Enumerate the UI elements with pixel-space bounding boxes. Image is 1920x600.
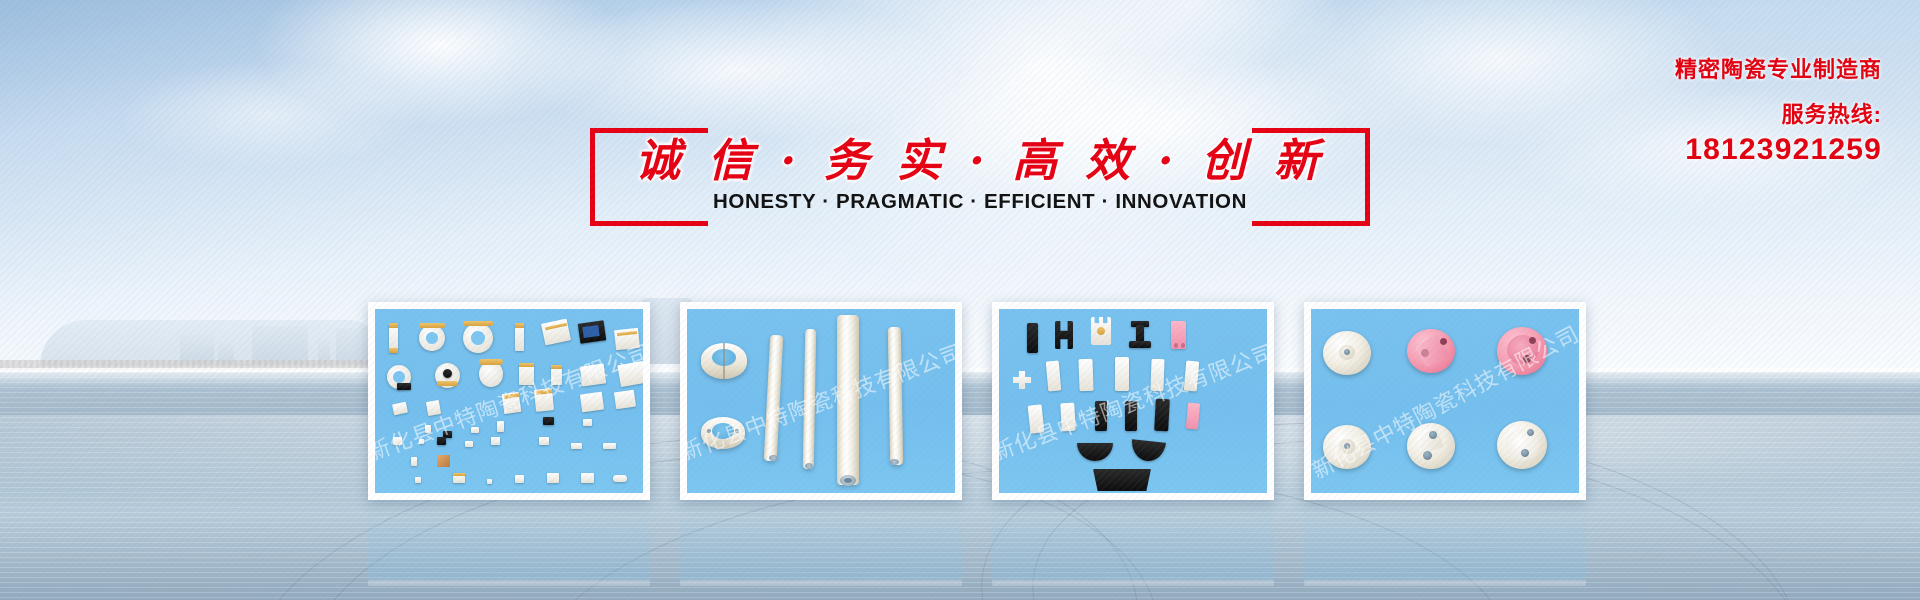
product-panel-4[interactable]: 新化县中特陶瓷科技有限公司 bbox=[1304, 302, 1586, 500]
ceramic-part bbox=[539, 437, 549, 445]
disc-hole bbox=[1523, 355, 1531, 363]
ceramic-part bbox=[1186, 403, 1200, 430]
ceramic-part bbox=[497, 421, 504, 432]
ceramic-arc-part bbox=[1077, 443, 1113, 461]
hotline-number[interactable]: 18123921259 bbox=[1675, 133, 1882, 167]
ceramic-part bbox=[1129, 341, 1151, 348]
ceramic-part bbox=[582, 325, 599, 338]
disc-hole bbox=[1521, 449, 1529, 457]
product-image-2: 新化县中特陶瓷科技有限公司 bbox=[687, 309, 955, 493]
disc-hole bbox=[1423, 451, 1432, 460]
ceramic-part bbox=[1184, 360, 1200, 391]
ceramic-part bbox=[437, 381, 457, 386]
disc-hole bbox=[1527, 429, 1534, 436]
ceramic-tube bbox=[888, 327, 903, 465]
ceramic-part bbox=[515, 475, 524, 483]
ceramic-part bbox=[437, 437, 446, 445]
ceramic-part bbox=[543, 417, 554, 425]
promo-banner: 诚 信 · 务 实 · 高 效 · 创 新 HONESTY · PRAGMATI… bbox=[0, 0, 1920, 600]
ceramic-part bbox=[1150, 359, 1164, 391]
tube-bore bbox=[805, 463, 813, 469]
disc-hole bbox=[1440, 338, 1447, 345]
ceramic-part bbox=[419, 323, 445, 328]
tube-bore bbox=[890, 459, 899, 465]
ceramic-part bbox=[487, 479, 492, 484]
hotline-label: 服务热线: bbox=[1675, 97, 1882, 129]
slogan-chinese: 诚 信 · 务 实 · 高 效 · 创 新 bbox=[590, 124, 1370, 189]
slogan-english: HONESTY · PRAGMATIC · EFFICIENT · INNOVA… bbox=[590, 190, 1370, 214]
ceramic-block-part bbox=[1093, 469, 1151, 491]
ceramic-part bbox=[1125, 401, 1137, 431]
ceramic-part bbox=[479, 359, 503, 365]
product-image-1: 新化县中特陶瓷科技有限公司 bbox=[375, 309, 643, 493]
ceramic-part bbox=[393, 437, 402, 445]
ceramic-part bbox=[1060, 403, 1075, 432]
ceramic-part bbox=[580, 363, 607, 386]
ceramic-part bbox=[389, 348, 398, 353]
disc-hole bbox=[1344, 349, 1350, 355]
product-image-3: 新化县中特陶瓷科技有限公司 bbox=[999, 309, 1267, 493]
ring-slot bbox=[723, 343, 725, 379]
contact-block: 精密陶瓷专业制造商 服务热线: 18123921259 bbox=[1675, 52, 1882, 167]
ceramic-part bbox=[1174, 343, 1178, 348]
ceramic-part bbox=[465, 441, 473, 447]
ceramic-part bbox=[425, 425, 431, 433]
tube-bore-inner bbox=[844, 478, 852, 483]
tube-bore bbox=[769, 455, 778, 461]
ceramic-part bbox=[580, 392, 604, 413]
ceramic-tube bbox=[837, 315, 859, 485]
ring-hole bbox=[735, 429, 739, 433]
product-panel-3[interactable]: 新化县中特陶瓷科技有限公司 bbox=[992, 302, 1274, 500]
ceramic-part bbox=[1154, 399, 1170, 432]
ceramic-part bbox=[491, 437, 500, 445]
ceramic-part bbox=[1078, 359, 1093, 391]
disc-hole bbox=[1529, 337, 1536, 344]
ceramic-part bbox=[1097, 327, 1105, 335]
ceramic-arc-part bbox=[1130, 439, 1166, 462]
ceramic-part bbox=[515, 323, 524, 328]
ceramic-part bbox=[437, 455, 450, 467]
ceramic-part bbox=[397, 383, 411, 390]
ceramic-part bbox=[393, 371, 405, 383]
ceramic-part bbox=[614, 390, 636, 410]
slogan-block: 诚 信 · 务 实 · 高 效 · 创 新 HONESTY · PRAGMATI… bbox=[590, 128, 1370, 238]
ceramic-part bbox=[519, 363, 534, 367]
ceramic-part bbox=[426, 400, 441, 416]
product-image-4: 新化县中特陶瓷科技有限公司 bbox=[1311, 309, 1579, 493]
ceramic-part bbox=[463, 321, 493, 326]
ceramic-part bbox=[426, 332, 438, 344]
ceramic-part bbox=[1013, 371, 1031, 389]
ceramic-part bbox=[1046, 360, 1062, 391]
product-panel-2[interactable]: 新化县中特陶瓷科技有限公司 bbox=[680, 302, 962, 500]
ceramic-part bbox=[1055, 321, 1073, 349]
ceramic-part bbox=[389, 323, 398, 328]
ceramic-part bbox=[1115, 357, 1129, 391]
ceramic-part bbox=[1028, 404, 1045, 433]
ring-bore bbox=[712, 423, 734, 439]
ceramic-part bbox=[1095, 401, 1107, 431]
ceramic-part bbox=[411, 457, 417, 466]
ceramic-part bbox=[571, 443, 582, 449]
ceramic-part bbox=[547, 473, 559, 483]
ceramic-part bbox=[1181, 343, 1185, 348]
ceramic-part bbox=[581, 473, 594, 483]
ring-hole bbox=[707, 429, 711, 433]
disc-hole bbox=[1421, 349, 1429, 357]
disc-hole bbox=[1429, 431, 1437, 439]
disc-hole bbox=[1344, 443, 1350, 449]
ceramic-part bbox=[617, 361, 643, 387]
product-panel-1[interactable]: 新化县中特陶瓷科技有限公司 bbox=[368, 302, 650, 500]
ceramic-part bbox=[1027, 323, 1038, 353]
ceramic-part bbox=[415, 477, 421, 483]
ceramic-part bbox=[419, 439, 424, 444]
ceramic-part bbox=[453, 473, 465, 476]
ceramic-part bbox=[551, 365, 562, 369]
ceramic-part bbox=[583, 419, 592, 426]
ceramic-tube bbox=[803, 329, 816, 469]
ceramic-tube bbox=[764, 335, 784, 462]
ceramic-part bbox=[471, 331, 485, 345]
ceramic-part bbox=[471, 427, 479, 433]
ceramic-part bbox=[603, 443, 616, 449]
ceramic-part bbox=[613, 475, 627, 482]
company-tagline: 精密陶瓷专业制造商 bbox=[1675, 52, 1882, 84]
ceramic-part bbox=[443, 369, 452, 378]
ceramic-part bbox=[392, 402, 408, 416]
